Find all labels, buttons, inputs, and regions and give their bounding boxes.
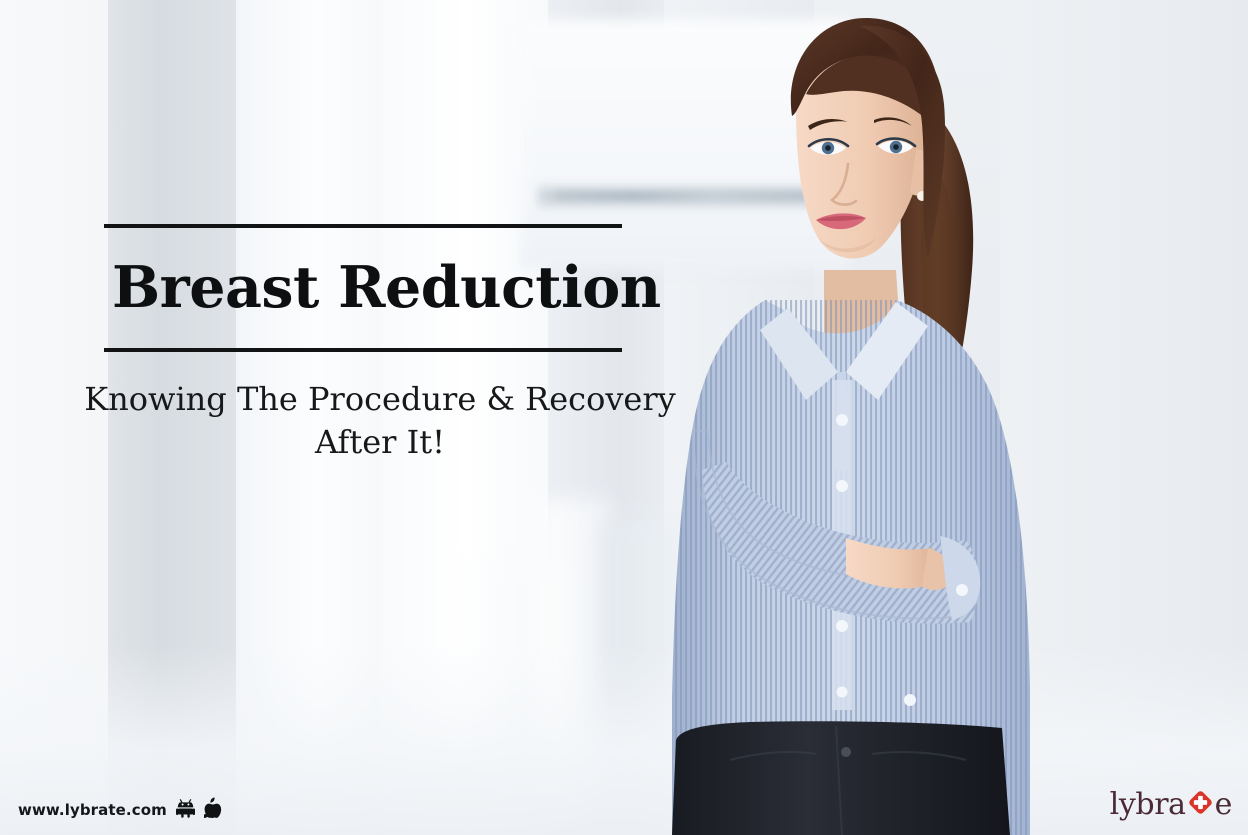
footer-left-group: www.lybrate.com bbox=[18, 797, 222, 823]
brand-name-suffix: e bbox=[1215, 790, 1232, 820]
subtitle-line-1: Knowing The Procedure & Recovery bbox=[30, 378, 730, 421]
page-title: Breast Reduction bbox=[104, 228, 624, 348]
subtitle-line-2: After It! bbox=[30, 421, 730, 464]
apple-icon[interactable] bbox=[204, 797, 222, 823]
brand-name-prefix: lybra bbox=[1110, 790, 1186, 820]
website-url[interactable]: www.lybrate.com bbox=[18, 801, 167, 819]
poster-canvas: Breast Reduction Knowing The Procedure &… bbox=[0, 0, 1248, 835]
lybrate-logo[interactable]: lybra e bbox=[1110, 789, 1232, 821]
headline-block: Breast Reduction bbox=[104, 224, 624, 352]
headline-rule-bottom bbox=[104, 348, 622, 352]
page-subtitle: Knowing The Procedure & Recovery After I… bbox=[30, 378, 730, 464]
android-icon[interactable] bbox=[176, 797, 195, 823]
diamond-plus-icon bbox=[1187, 789, 1214, 821]
